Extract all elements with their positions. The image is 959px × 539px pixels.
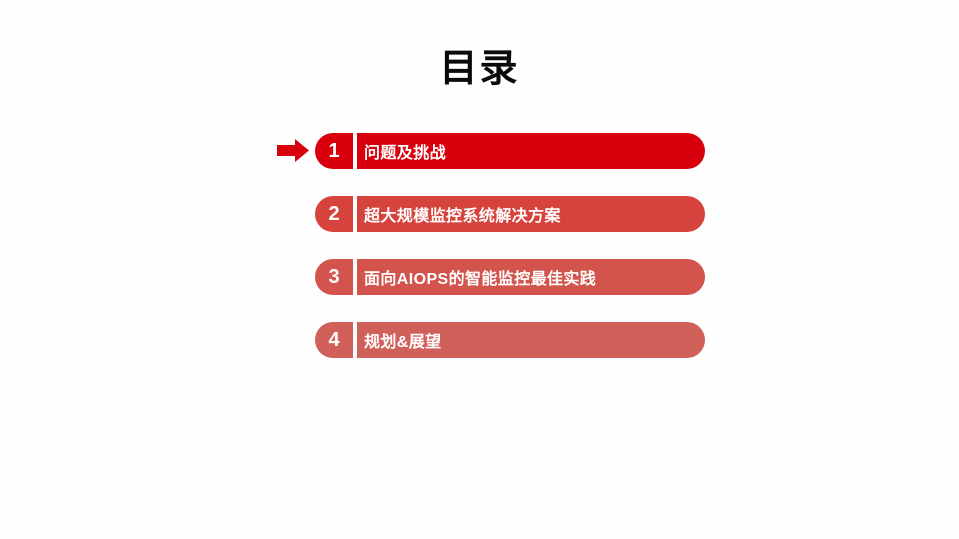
agenda-separator-2	[353, 196, 357, 232]
agenda-number-4: 4	[315, 322, 353, 358]
agenda-label-4: 规划&展望	[364, 322, 691, 358]
agenda-number-1: 1	[315, 133, 353, 169]
agenda-pill-1[interactable]: 1 问题及挑战	[315, 133, 705, 169]
agenda-number-3: 3	[315, 259, 353, 295]
agenda-separator-3	[353, 259, 357, 295]
agenda-item-2[interactable]: 2 超大规模监控系统解决方案	[268, 196, 698, 232]
agenda-number-2: 2	[315, 196, 353, 232]
right-arrow-icon	[277, 139, 309, 162]
agenda-separator-4	[353, 322, 357, 358]
agenda-label-1: 问题及挑战	[364, 133, 691, 169]
agenda-item-1[interactable]: 1 问题及挑战	[268, 133, 698, 169]
agenda-list: 1 问题及挑战 2 超大规模监控系统解决方案 3 面向AIOPS的智能监控最佳实…	[0, 0, 959, 539]
agenda-pill-2[interactable]: 2 超大规模监控系统解决方案	[315, 196, 705, 232]
agenda-separator-1	[353, 133, 357, 169]
slide-canvas: 目录 1 问题及挑战 2 超大规模监控系统解决方案 3	[0, 0, 959, 539]
agenda-pill-3[interactable]: 3 面向AIOPS的智能监控最佳实践	[315, 259, 705, 295]
agenda-label-3: 面向AIOPS的智能监控最佳实践	[364, 259, 691, 295]
agenda-item-4[interactable]: 4 规划&展望	[268, 322, 698, 358]
agenda-item-3[interactable]: 3 面向AIOPS的智能监控最佳实践	[268, 259, 698, 295]
agenda-label-2: 超大规模监控系统解决方案	[364, 196, 691, 232]
agenda-pill-4[interactable]: 4 规划&展望	[315, 322, 705, 358]
